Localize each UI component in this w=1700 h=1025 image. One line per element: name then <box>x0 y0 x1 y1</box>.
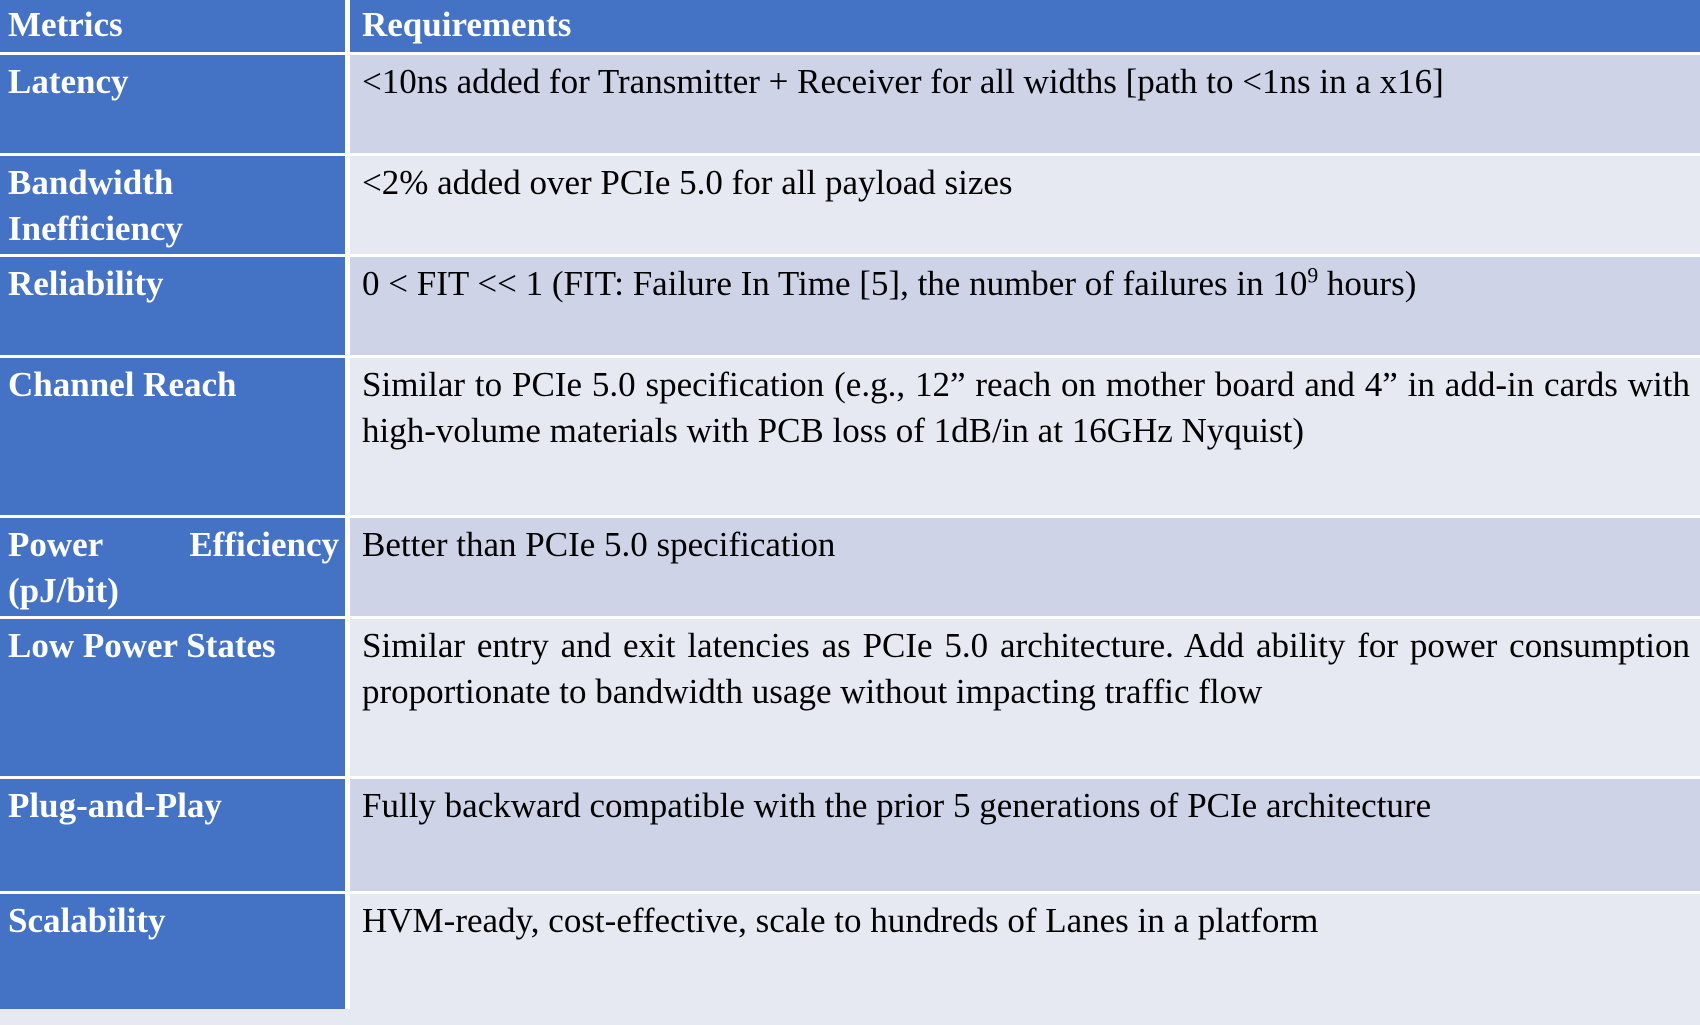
table-row: Bandwidth Inefficiency <2% added over PC… <box>0 156 1700 257</box>
reliability-text-pre: 0 < FIT << 1 (FIT: Failure In Time [5], … <box>362 264 1307 303</box>
requirement-text-channel-reach: Similar to PCIe 5.0 specification (e.g.,… <box>350 358 1700 515</box>
column-header-requirements: Requirements <box>350 0 1700 52</box>
requirement-text-plug-and-play: Fully backward compatible with the prior… <box>350 779 1700 891</box>
metric-label-reliability: Reliability <box>0 257 350 355</box>
metric-label-bandwidth-inefficiency: Bandwidth Inefficiency <box>0 156 350 254</box>
requirement-text-low-power-states: Similar entry and exit latencies as PCIe… <box>350 619 1700 776</box>
table-row: Low Power States Similar entry and exit … <box>0 619 1700 779</box>
metric-label-latency: Latency <box>0 55 350 153</box>
requirement-text-reliability: 0 < FIT << 1 (FIT: Failure In Time [5], … <box>350 257 1700 355</box>
table-row: Latency <10ns added for Transmitter + Re… <box>0 55 1700 156</box>
requirement-text-power-efficiency: Better than PCIe 5.0 specification <box>350 518 1700 616</box>
power-efficiency-line-2: (pJ/bit) <box>8 568 339 614</box>
metrics-requirements-table: Metrics Requirements Latency <10ns added… <box>0 0 1700 1025</box>
metric-label-power-efficiency: Power Efficiency(pJ/bit) <box>0 518 350 616</box>
requirement-text-scalability: HVM-ready, cost-effective, scale to hund… <box>350 894 1700 1025</box>
metric-label-channel-reach: Channel Reach <box>0 358 350 515</box>
requirement-text-bandwidth-inefficiency: <2% added over PCIe 5.0 for all payload … <box>350 156 1700 254</box>
reliability-text-post: hours) <box>1318 264 1416 303</box>
table-row: Power Efficiency(pJ/bit) Better than PCI… <box>0 518 1700 619</box>
metric-label-plug-and-play: Plug-and-Play <box>0 779 350 891</box>
table-row: Channel Reach Similar to PCIe 5.0 specif… <box>0 358 1700 518</box>
table-header-row: Metrics Requirements <box>0 0 1700 55</box>
table-row: Plug-and-Play Fully backward compatible … <box>0 779 1700 894</box>
requirement-text-latency: <10ns added for Transmitter + Receiver f… <box>350 55 1700 153</box>
column-header-metrics: Metrics <box>0 0 350 52</box>
metric-label-scalability: Scalability <box>0 894 350 1009</box>
table-row: Reliability 0 < FIT << 1 (FIT: Failure I… <box>0 257 1700 358</box>
table-row: Scalability HVM-ready, cost-effective, s… <box>0 894 1700 1025</box>
reliability-exponent: 9 <box>1307 263 1318 287</box>
power-efficiency-line-1: Power Efficiency <box>8 522 339 568</box>
metric-label-low-power-states: Low Power States <box>0 619 350 776</box>
